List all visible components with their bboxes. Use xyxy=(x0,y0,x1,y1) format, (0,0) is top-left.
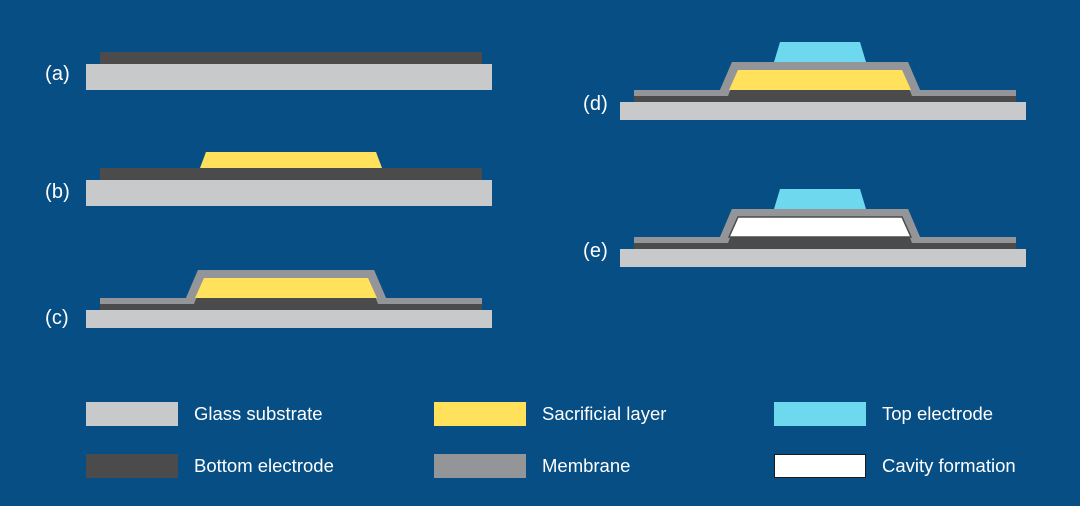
glass-substrate-layer xyxy=(86,310,492,328)
process-step-a xyxy=(86,48,496,90)
step-b-cross-section xyxy=(86,148,496,206)
legend-item-top-electrode: Top electrode xyxy=(774,402,1046,426)
legend-row: Bottom electrode Membrane Cavity formati… xyxy=(86,440,1046,492)
legend-item-cavity-formation: Cavity formation xyxy=(774,454,1046,478)
legend-label-membrane: Membrane xyxy=(542,457,630,476)
legend-swatch-top-electrode xyxy=(774,402,866,426)
bottom-electrode-layer xyxy=(100,168,482,180)
legend-label-sacrificial-layer: Sacrificial layer xyxy=(542,405,666,424)
legend-item-sacrificial-layer: Sacrificial layer xyxy=(434,402,774,426)
top-electrode-layer xyxy=(774,42,866,62)
top-electrode-layer xyxy=(774,189,866,209)
legend: Glass substrate Sacrificial layer Top el… xyxy=(86,388,1046,492)
process-step-b xyxy=(86,148,496,206)
step-label-c: (c) xyxy=(45,308,69,328)
legend-row: Glass substrate Sacrificial layer Top el… xyxy=(86,388,1046,440)
step-c-cross-section xyxy=(86,266,496,328)
cavity-fill xyxy=(729,217,911,237)
sacrificial-layer-fill xyxy=(195,278,377,298)
glass-substrate-layer xyxy=(620,249,1026,267)
legend-label-glass-substrate: Glass substrate xyxy=(194,405,323,424)
step-e-cross-section xyxy=(620,185,1030,267)
legend-swatch-cavity-formation xyxy=(774,454,866,478)
legend-swatch-membrane xyxy=(434,454,526,478)
glass-substrate-layer xyxy=(620,102,1026,120)
sacrificial-layer-top xyxy=(200,152,382,168)
legend-label-cavity-formation: Cavity formation xyxy=(882,457,1016,476)
step-d-cross-section xyxy=(620,38,1030,120)
glass-substrate-layer xyxy=(86,64,492,90)
legend-label-bottom-electrode: Bottom electrode xyxy=(194,457,334,476)
legend-item-membrane: Membrane xyxy=(434,454,774,478)
bottom-electrode-layer xyxy=(100,52,482,64)
process-step-e xyxy=(620,185,1030,267)
step-label-a: (a) xyxy=(45,64,70,84)
legend-swatch-sacrificial-layer xyxy=(434,402,526,426)
legend-item-glass-substrate: Glass substrate xyxy=(86,402,434,426)
step-label-d: (d) xyxy=(583,94,608,114)
process-flow-diagram: (a) (b) (c) xyxy=(0,0,1080,506)
legend-swatch-glass-substrate xyxy=(86,402,178,426)
legend-item-bottom-electrode: Bottom electrode xyxy=(86,454,434,478)
glass-substrate-layer xyxy=(86,180,492,206)
step-label-b: (b) xyxy=(45,182,70,202)
sacrificial-layer-fill xyxy=(729,70,911,90)
process-step-d xyxy=(620,38,1030,120)
legend-label-top-electrode: Top electrode xyxy=(882,405,993,424)
step-a-cross-section xyxy=(86,48,496,90)
legend-swatch-bottom-electrode xyxy=(86,454,178,478)
step-label-e: (e) xyxy=(583,241,608,261)
process-step-c xyxy=(86,266,496,328)
